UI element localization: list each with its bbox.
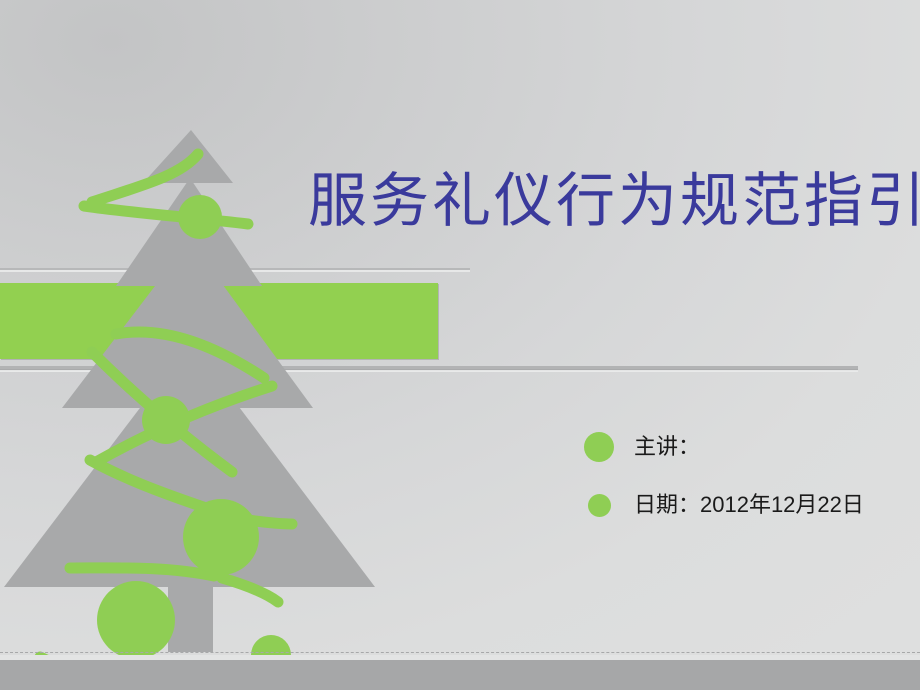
ornament-top [178,195,222,239]
page-title: 服务礼仪行为规范指引 [308,166,908,236]
gray-footer-band [0,660,920,690]
dashed-guide-line [0,652,920,653]
bullet-circle-icon [588,494,611,517]
bullet-circle-icon [584,432,614,462]
ornament-large-lower [97,581,175,659]
ornament-large [183,499,259,575]
presentation-slide: 服务礼仪行为规范指引 主讲： 日期：2012年12月22日 [0,0,920,690]
list-item: 主讲： [584,432,914,462]
date-label: 日期：2012年12月22日 [634,492,864,518]
presenter-label: 主讲： [634,434,700,460]
list-item: 日期：2012年12月22日 [584,492,914,518]
ornament-upper [142,396,190,444]
info-list: 主讲： 日期：2012年12月22日 [584,432,914,544]
